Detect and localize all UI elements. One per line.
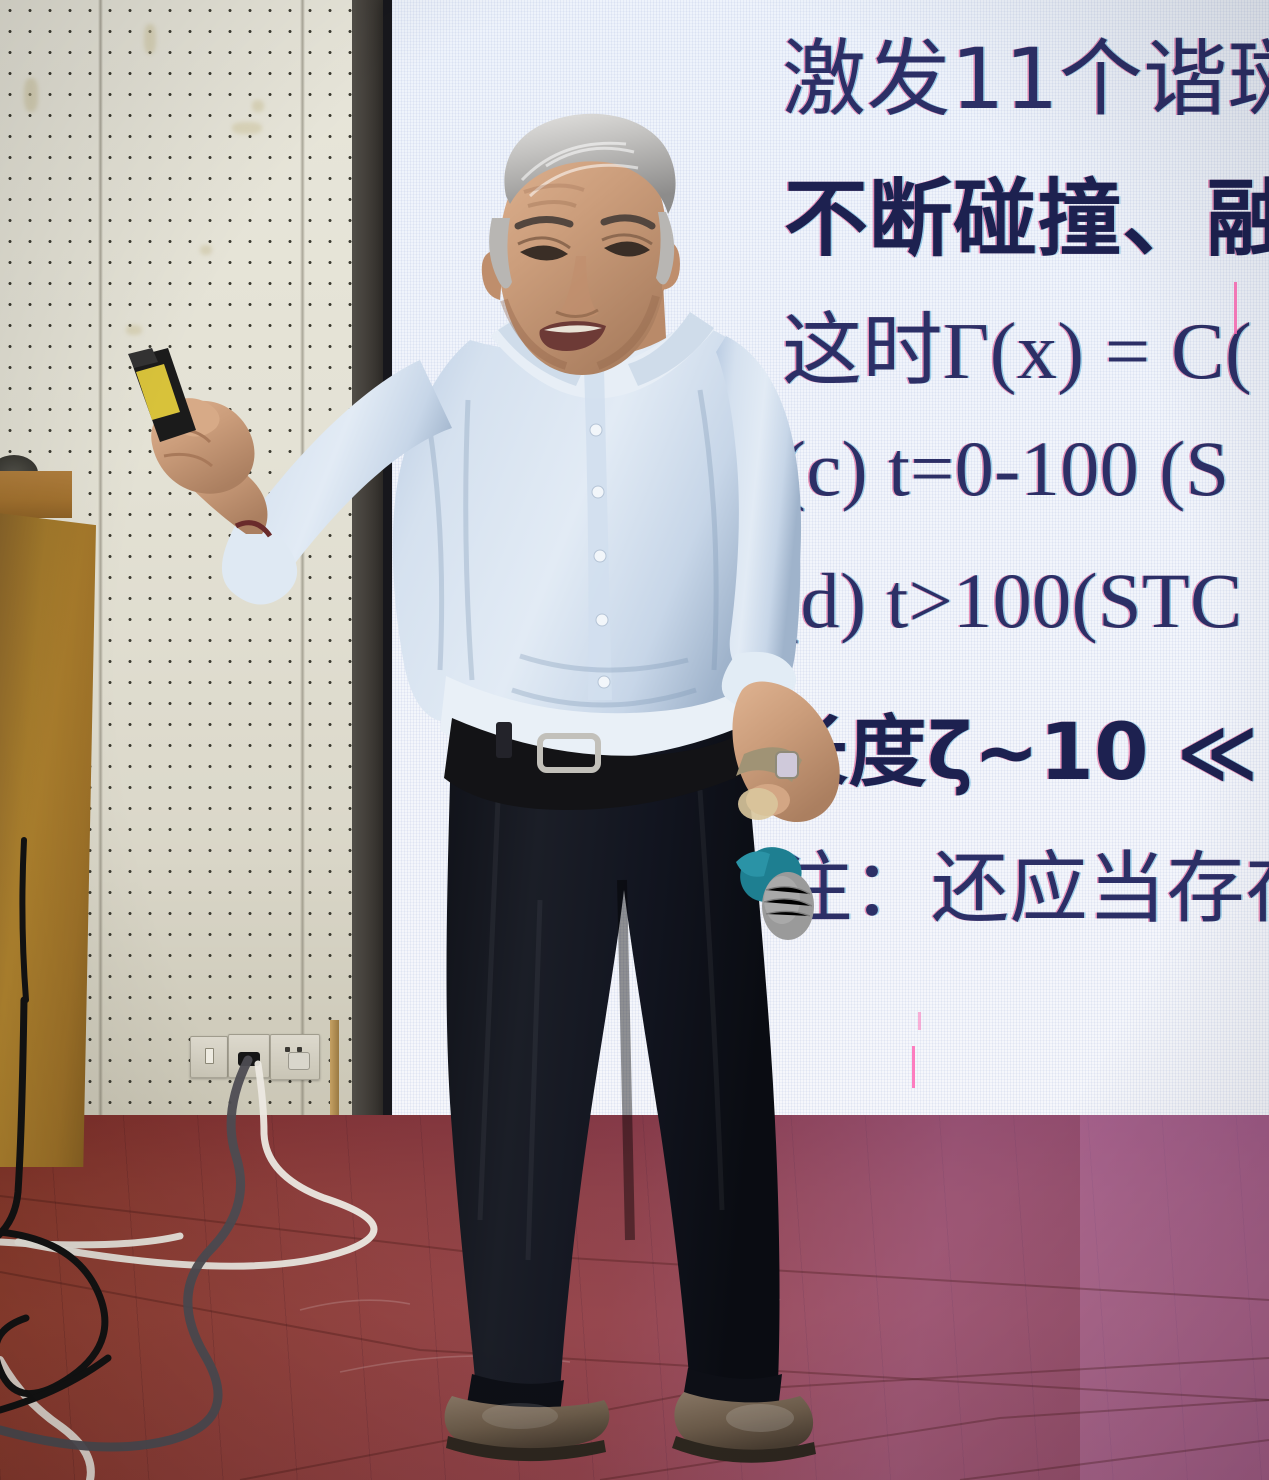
shoe-highlight	[726, 1404, 794, 1432]
presentation-remote	[128, 348, 196, 442]
hand-patch	[738, 788, 778, 820]
shoe-highlight	[482, 1403, 558, 1429]
presentation-photo: 激发11个谐斑 不断碰撞、融 这时Γ(x) = C( (c) t=0-100 (…	[0, 0, 1269, 1480]
trouser-inseam	[622, 880, 630, 1240]
belt-loop	[496, 722, 512, 758]
trousers	[447, 706, 782, 1418]
presenter	[0, 0, 1269, 1480]
